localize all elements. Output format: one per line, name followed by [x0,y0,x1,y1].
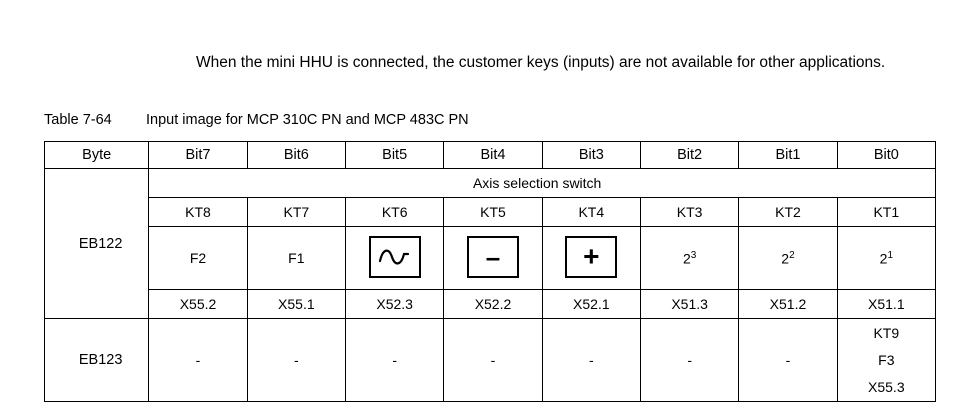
terminal-bit6: X55.1 [247,290,345,319]
plus-icon: + [565,236,617,278]
intro-paragraph: When the mini HHU is connected, the cust… [196,52,896,74]
eb123-bit0-terminal: X55.3 [837,373,935,402]
table-caption: Table 7-64Input image for MCP 310C PN an… [44,112,469,128]
header-bit4: Bit4 [444,142,542,169]
kt-bit2: KT3 [640,198,738,227]
symbol-bit4: – [444,227,542,290]
eb123-bit4: - [444,319,542,402]
terminal-bit4: X52.2 [444,290,542,319]
table-row: F2 F1 – + [45,227,936,290]
symbol-bit5 [346,227,444,290]
kt-bit3: KT4 [542,198,640,227]
eb123-bit6: - [247,319,345,402]
symbol-bit2: 23 [640,227,738,290]
symbol-bit6: F1 [247,227,345,290]
eb123-bit5: - [346,319,444,402]
eb123-bit0-kt: KT9 [837,319,935,348]
kt-bit1: KT2 [739,198,837,227]
header-bit5: Bit5 [346,142,444,169]
power-exp-bit0: 1 [887,250,893,261]
minus-glyph: – [469,244,517,270]
eb123-bit2: - [640,319,738,402]
header-bit3: Bit3 [542,142,640,169]
eb123-bit3: - [542,319,640,402]
eb123-bit7: - [149,319,247,402]
table-caption-label: Table 7-64 [44,112,146,128]
eb123-bit0-f3: F3 [837,347,935,373]
kt-bit4: KT5 [444,198,542,227]
terminal-bit7: X55.2 [149,290,247,319]
input-image-table: Byte Bit7 Bit6 Bit5 Bit4 Bit3 Bit2 Bit1 … [44,141,936,402]
symbol-bit0: 21 [837,227,935,290]
wave-icon [369,236,421,278]
axis-selection-switch: Axis selection switch [149,169,936,198]
table-row: X55.2 X55.1 X52.3 X52.2 X52.1 X51.3 X51.… [45,290,936,319]
plus-glyph: + [567,242,615,270]
terminal-bit2: X51.3 [640,290,738,319]
header-bit6: Bit6 [247,142,345,169]
table-row: EB123 - - - - - - - KT9 [45,319,936,348]
kt-bit6: KT7 [247,198,345,227]
terminal-bit0: X51.1 [837,290,935,319]
power-exp-bit2: 3 [691,250,697,261]
terminal-bit1: X51.2 [739,290,837,319]
byte-eb123: EB123 [45,319,149,402]
power-base-bit1: 2 [781,250,789,266]
kt-bit5: KT6 [346,198,444,227]
symbol-bit3: + [542,227,640,290]
eb123-bit1: - [739,319,837,402]
header-bit0: Bit0 [837,142,935,169]
table-row: KT8 KT7 KT6 KT5 KT4 KT3 KT2 KT1 [45,198,936,227]
kt-bit0: KT1 [837,198,935,227]
header-bit2: Bit2 [640,142,738,169]
kt-bit7: KT8 [149,198,247,227]
terminal-bit3: X52.1 [542,290,640,319]
header-bit7: Bit7 [149,142,247,169]
header-byte: Byte [45,142,149,169]
document-page: When the mini HHU is connected, the cust… [0,0,979,417]
byte-eb122: EB122 [45,169,149,319]
terminal-bit5: X52.3 [346,290,444,319]
table-caption-text: Input image for MCP 310C PN and MCP 483C… [146,112,469,128]
symbol-bit7: F2 [149,227,247,290]
power-base-bit2: 2 [683,250,691,266]
table-row: EB122 Axis selection switch [45,169,936,198]
symbol-bit1: 22 [739,227,837,290]
table-header-row: Byte Bit7 Bit6 Bit5 Bit4 Bit3 Bit2 Bit1 … [45,142,936,169]
header-bit1: Bit1 [739,142,837,169]
power-exp-bit1: 2 [789,250,795,261]
minus-icon: – [467,236,519,278]
